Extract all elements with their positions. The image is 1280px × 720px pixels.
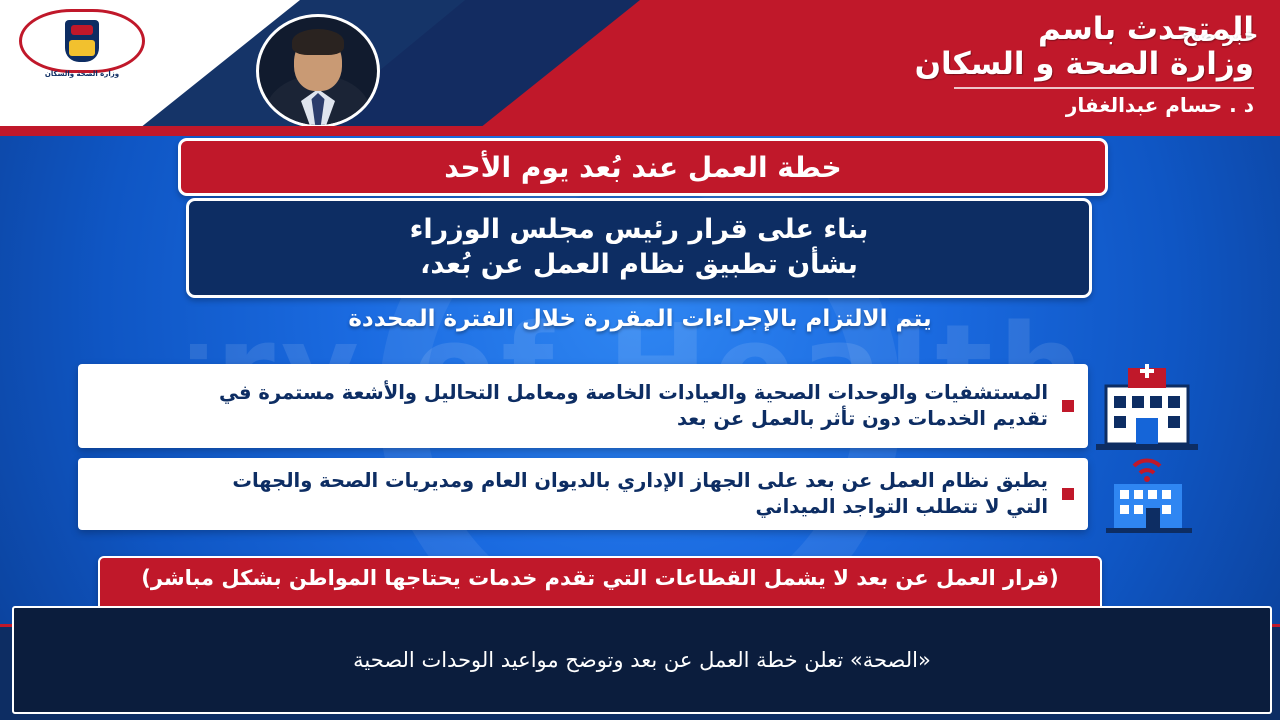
header-title-line2: وزارة الصحة و السكان (554, 47, 1254, 82)
subtitle-text: يتم الالتزام بالإجراءات المقررة خلال الف… (0, 306, 1280, 332)
header-title-line1: المتحدث باسم (554, 12, 1254, 47)
spokesperson-name: د . حسام عبدالغفار (554, 93, 1254, 117)
logo-emblem (19, 9, 145, 73)
header-red-strip (0, 126, 1280, 136)
logo-inner-shape (65, 20, 99, 62)
caption-overlay-bar: «الصحة» تعلن خطة العمل عن بعد وتوضح مواع… (12, 606, 1272, 714)
decision-line-2: بشأن تطبيق نظام العمل عن بُعد، (420, 248, 858, 283)
headline-banner: خطة العمل عند بُعد يوم الأحد (178, 138, 1108, 196)
infographic-canvas: Ministry of Health وزارة الصحة والسكان ا… (0, 0, 1280, 720)
decision-line-1: بناء على قرار رئيس مجلس الوزراء (410, 213, 869, 248)
spokesperson-portrait (256, 14, 380, 128)
bullet-square-icon (1062, 400, 1074, 412)
header-bar: وزارة الصحة والسكان المتحدث باسم وزارة ا… (0, 0, 1280, 136)
point-card-2: يطبق نظام العمل عن بعد على الجهاز الإدار… (78, 458, 1088, 530)
point-card-1: المستشفيات والوحدات الصحية والعيادات الخ… (78, 364, 1088, 448)
hospital-icon (1088, 360, 1206, 454)
header-divider (954, 87, 1254, 89)
point-card-2-text: يطبق نظام العمل عن بعد على الجهاز الإدار… (78, 468, 1052, 520)
bullet-square-icon (1062, 488, 1074, 500)
header-title-block: المتحدث باسم وزارة الصحة و السكان د . حس… (554, 12, 1254, 117)
ministry-logo (18, 10, 146, 72)
point-card-1-text: المستشفيات والوحدات الصحية والعيادات الخ… (78, 380, 1052, 432)
office-building-icon (1096, 452, 1202, 534)
news-watermark-tag: خبر صح (1182, 22, 1258, 46)
logo-caption: وزارة الصحة والسكان (18, 70, 146, 78)
decision-banner: بناء على قرار رئيس مجلس الوزراء بشأن تطب… (186, 198, 1092, 298)
caption-text: «الصحة» تعلن خطة العمل عن بعد وتوضح مواع… (323, 648, 961, 672)
portrait-hair (292, 29, 344, 55)
